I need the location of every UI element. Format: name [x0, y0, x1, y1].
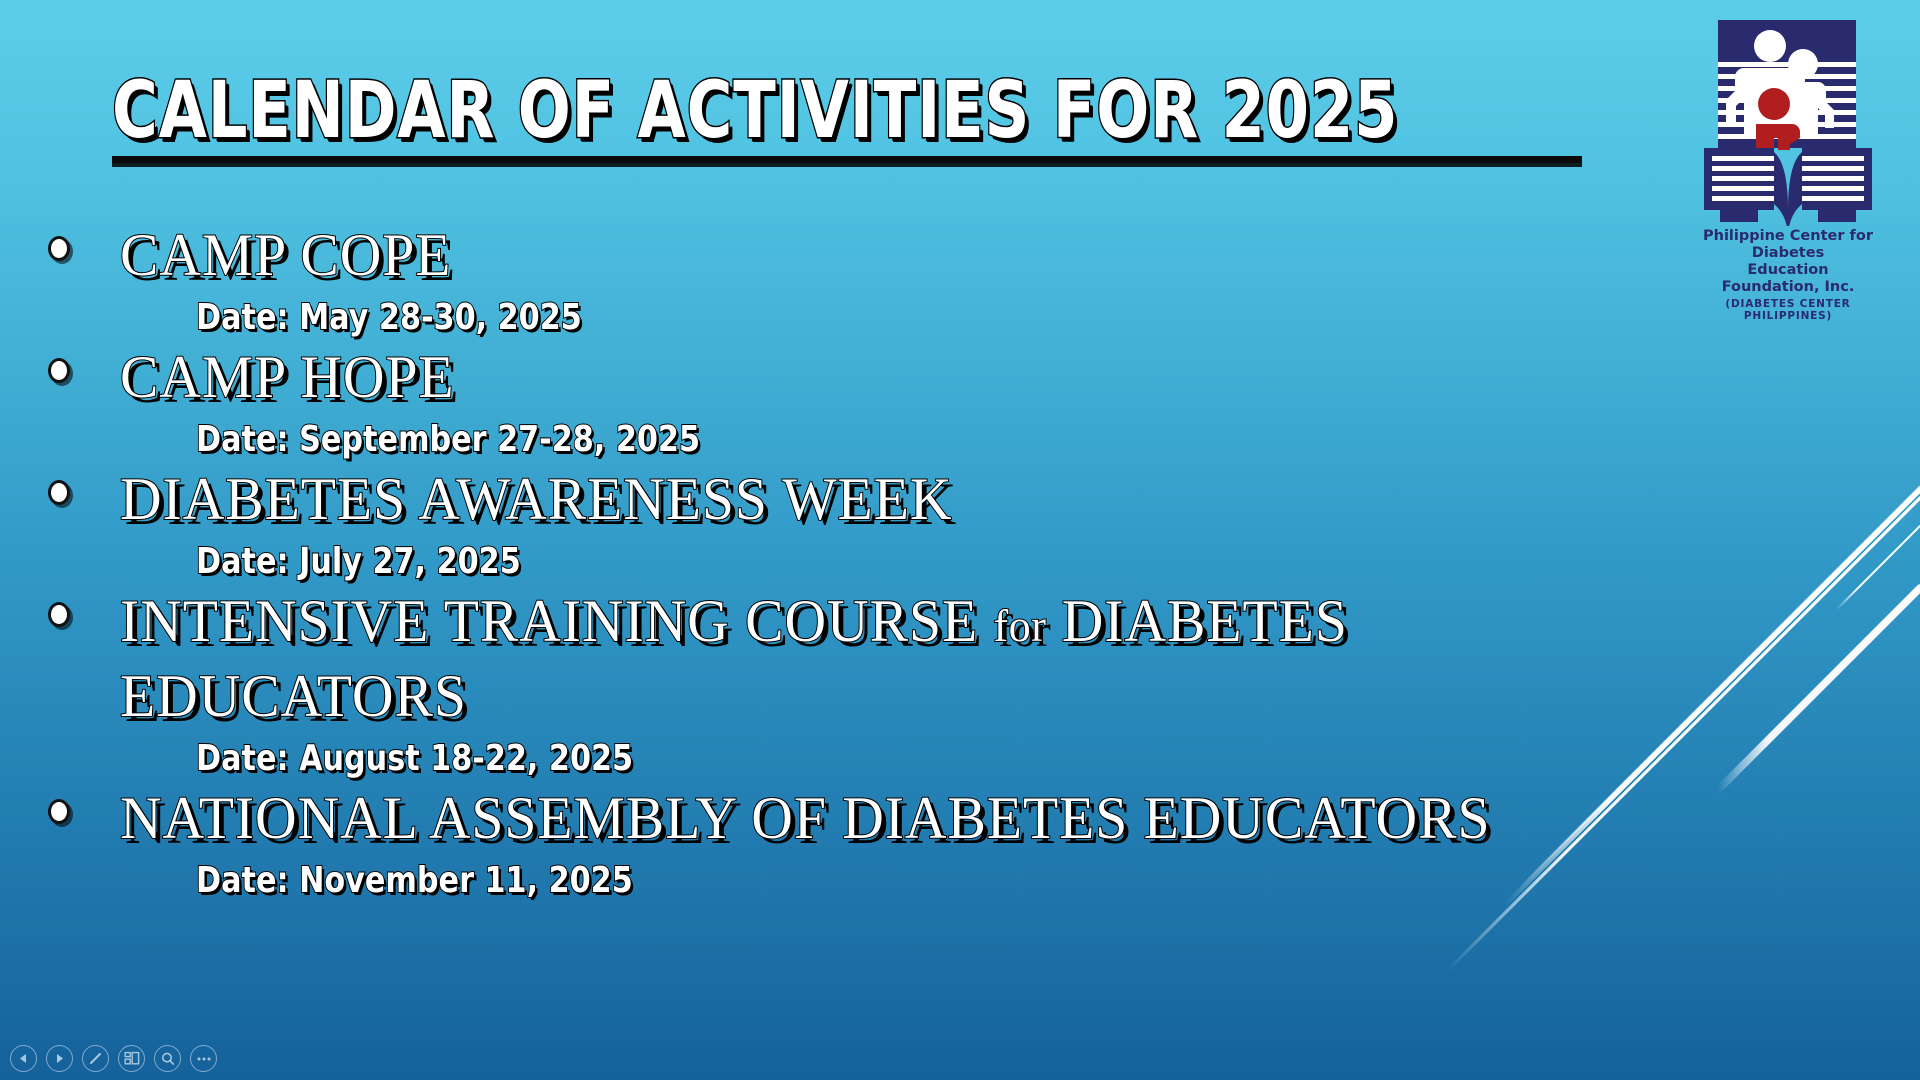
pen-icon [87, 1050, 104, 1067]
activity-row: DIABETES AWARENESS WEEK [0, 462, 1760, 537]
list-item: INTENSIVE TRAINING COURSE for DIABETES E… [0, 584, 1760, 781]
activity-date: Date: August 18-22, 2025 [196, 736, 1510, 781]
activity-row: INTENSIVE TRAINING COURSE for DIABETES E… [0, 584, 1760, 734]
activity-date: Date: May 28-30, 2025 [196, 295, 1510, 340]
activity-name: INTENSIVE TRAINING COURSE for DIABETES E… [120, 584, 1656, 734]
previous-slide-icon [17, 1052, 30, 1065]
activity-name-connector: for [993, 600, 1046, 651]
previous-slide-button[interactable] [10, 1045, 37, 1072]
activity-name: CAMP COPE [120, 218, 1656, 293]
bullet-dot-icon [48, 602, 70, 627]
logo-line-1: Philippine Center for Diabetes [1700, 228, 1876, 262]
next-slide-button[interactable] [46, 1045, 73, 1072]
see-all-slides-button[interactable] [118, 1045, 145, 1072]
activity-date: Date: July 27, 2025 [196, 539, 1510, 584]
activity-name: CAMP HOPE [120, 340, 1656, 415]
logo-caption: Philippine Center for Diabetes Education… [1700, 228, 1876, 322]
activities-list: CAMP COPE Date: May 28-30, 2025 CAMP HOP… [0, 218, 1760, 903]
presentation-slide: CALENDAR OF ACTIVITIES FOR 2025 CAMP COP… [0, 0, 1920, 1080]
page-title-text: CALENDAR OF ACTIVITIES FOR 2025 [112, 72, 1398, 152]
activity-name-main: CAMP HOPE [120, 344, 455, 410]
activity-name-main: INTENSIVE TRAINING COURSE [120, 588, 993, 654]
more-options-icon [196, 1056, 212, 1062]
page-title: CALENDAR OF ACTIVITIES FOR 2025 [112, 72, 1612, 163]
title-underline [112, 156, 1582, 163]
activity-row: CAMP COPE [0, 218, 1760, 293]
list-item: CAMP HOPE Date: September 27-28, 2025 [0, 340, 1760, 462]
organization-logo: Philippine Center for Diabetes Education… [1700, 16, 1876, 322]
slide-grid-icon [124, 1051, 140, 1066]
activity-date: Date: November 11, 2025 [196, 858, 1510, 903]
activity-name: DIABETES AWARENESS WEEK [120, 462, 1656, 537]
zoom-magnifier-icon [160, 1051, 176, 1067]
activity-date: Date: September 27-28, 2025 [196, 417, 1510, 462]
pen-tools-button[interactable] [82, 1045, 109, 1072]
bullet-dot-icon [48, 236, 70, 261]
bullet-dot-icon [48, 799, 70, 824]
list-item: DIABETES AWARENESS WEEK Date: July 27, 2… [0, 462, 1760, 584]
bullet-dot-icon [48, 480, 70, 505]
zoom-slide-button[interactable] [154, 1045, 181, 1072]
activity-name-main: CAMP COPE [120, 222, 451, 288]
activity-row: NATIONAL ASSEMBLY OF DIABETES EDUCATORS [0, 781, 1760, 856]
logo-mark-icon [1700, 16, 1876, 226]
list-item: CAMP COPE Date: May 28-30, 2025 [0, 218, 1760, 340]
activity-name: NATIONAL ASSEMBLY OF DIABETES EDUCATORS [120, 781, 1656, 856]
activity-name-main: NATIONAL ASSEMBLY OF DIABETES EDUCATORS [120, 785, 1490, 851]
logo-subtitle: (DIABETES CENTER PHILIPPINES) [1700, 298, 1876, 322]
activity-name-main: DIABETES AWARENESS WEEK [120, 466, 952, 532]
list-item: NATIONAL ASSEMBLY OF DIABETES EDUCATORS … [0, 781, 1760, 903]
slideshow-toolbar [10, 1045, 217, 1072]
logo-line-2: Education Foundation, Inc. [1700, 262, 1876, 296]
next-slide-icon [53, 1052, 66, 1065]
activity-row: CAMP HOPE [0, 340, 1760, 415]
more-options-button[interactable] [190, 1045, 217, 1072]
bullet-dot-icon [48, 358, 70, 383]
